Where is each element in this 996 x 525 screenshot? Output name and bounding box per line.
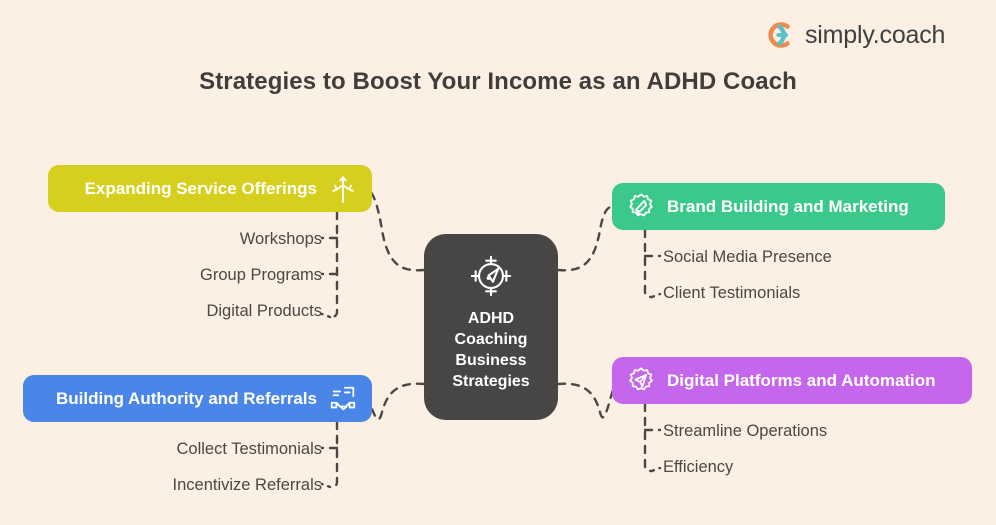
megaphone-badge-icon	[626, 192, 656, 222]
connector-stub-incentivize-referrals	[322, 484, 330, 487]
connector-spine-digital	[645, 404, 652, 471]
page-title: Strategies to Boost Your Income as an AD…	[0, 68, 996, 96]
branch-label-expanding: Expanding Service Offerings	[85, 180, 317, 197]
connector-stub-client-testimonials	[652, 294, 660, 297]
branching-arrows-icon	[328, 174, 358, 204]
connector-stub-efficiency	[652, 468, 660, 471]
connector-center-to-expanding	[366, 189, 424, 270]
leaf-group-programs: Group Programs	[200, 267, 322, 284]
center-node-label: ADHD Coaching Business Strategies	[452, 308, 529, 392]
handshake-icon	[328, 384, 358, 414]
leaf-collect-testimonials: Collect Testimonials	[176, 441, 322, 458]
branch-label-building: Building Authority and Referrals	[56, 390, 317, 407]
connector-spine-building	[330, 422, 337, 487]
simply-coach-logo-icon	[768, 21, 796, 49]
branch-digital-platforms-and-automation[interactable]: Digital Platforms and Automation	[612, 357, 972, 404]
branch-label-digital: Digital Platforms and Automation	[667, 372, 936, 389]
connector-center-to-brand	[558, 207, 618, 271]
branch-label-brand: Brand Building and Marketing	[667, 198, 909, 215]
connector-spine-expanding	[330, 212, 337, 317]
leaf-incentivize-referrals: Incentivize Referrals	[173, 477, 322, 494]
gear-send-icon	[626, 366, 656, 396]
leaf-digital-products: Digital Products	[206, 303, 322, 320]
leaf-efficiency: Efficiency	[663, 459, 733, 476]
leaf-workshops: Workshops	[240, 231, 322, 248]
leaf-social-media-presence: Social Media Presence	[663, 249, 832, 266]
branch-expanding-service-offerings[interactable]: Expanding Service Offerings	[48, 165, 372, 212]
target-compass-icon	[468, 253, 514, 299]
connector-center-to-digital	[558, 381, 618, 417]
infographic-canvas: simply.coach Strategies to Boost Your In…	[0, 0, 996, 525]
center-node[interactable]: ADHD Coaching Business Strategies	[424, 234, 558, 420]
connector-spine-brand	[645, 230, 652, 297]
leaf-streamline-operations: Streamline Operations	[663, 423, 827, 440]
leaf-client-testimonials: Client Testimonials	[663, 285, 800, 302]
connector-center-to-building	[366, 384, 424, 420]
connector-stub-digital-products	[322, 314, 330, 317]
brand-name: simply.coach	[805, 23, 945, 48]
brand-logo[interactable]: simply.coach	[768, 21, 945, 49]
branch-brand-building-and-marketing[interactable]: Brand Building and Marketing	[612, 183, 945, 230]
branch-building-authority-and-referrals[interactable]: Building Authority and Referrals	[23, 375, 372, 422]
